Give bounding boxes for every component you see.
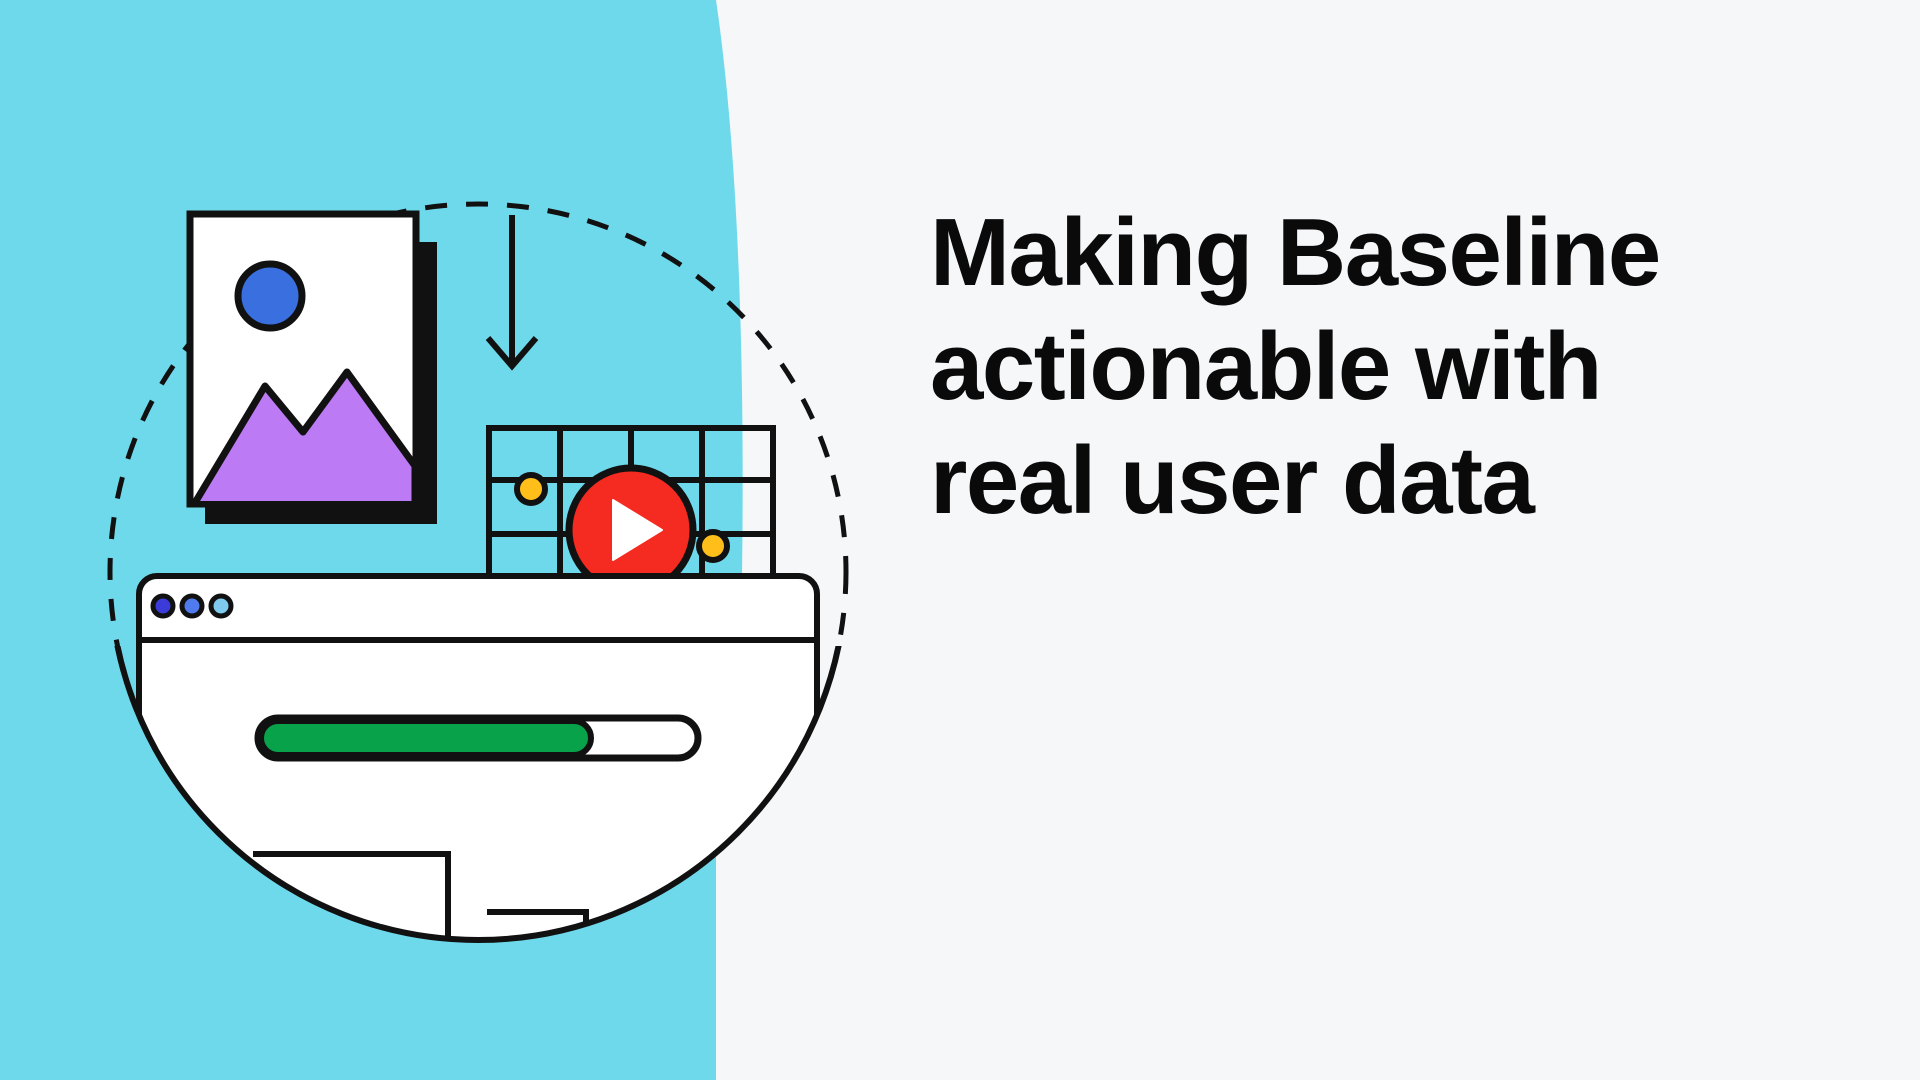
page-title: Making Baseline actionable with real use… bbox=[930, 196, 1770, 538]
hero-banner: Making Baseline actionable with real use… bbox=[0, 0, 1920, 1080]
background-restore-cyan bbox=[0, 0, 743, 1080]
background-restore bbox=[0, 0, 1920, 1080]
circle-clip-overlay bbox=[0, 0, 1920, 1080]
background-restore-gray bbox=[716, 0, 1920, 1080]
